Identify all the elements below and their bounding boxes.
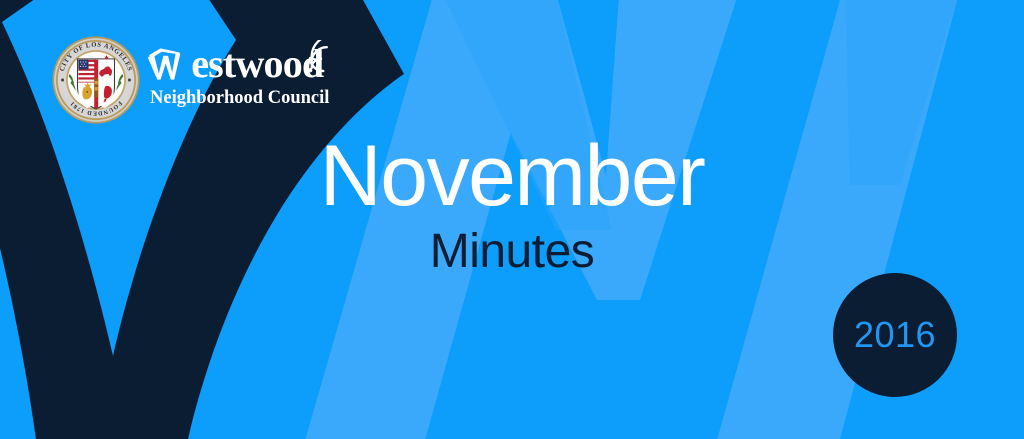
seal-quarter-stripes xyxy=(78,60,96,83)
headline-block: November Minutes xyxy=(0,128,1024,280)
city-of-los-angeles-seal: CITY OF LOS ANGELES FOUNDED 1781 xyxy=(52,36,140,124)
westwood-minutes-banner: CITY OF LOS ANGELES FOUNDED 1781 xyxy=(0,0,1024,439)
logo-lockup: CITY OF LOS ANGELES FOUNDED 1781 xyxy=(52,36,342,128)
westwood-wordmark-secondary: Neighborhood Council xyxy=(150,88,329,109)
westwood-initial-w-icon xyxy=(147,47,181,81)
wifi-signal-icon xyxy=(303,40,339,76)
westwood-wordmark: W estwood xyxy=(148,42,348,122)
seal-center-strip xyxy=(94,60,98,108)
year-badge: 2016 xyxy=(833,273,957,397)
page-subtitle: Minutes xyxy=(0,224,1024,280)
page-title: November xyxy=(0,128,1024,224)
year-badge-label: 2016 xyxy=(854,317,936,353)
